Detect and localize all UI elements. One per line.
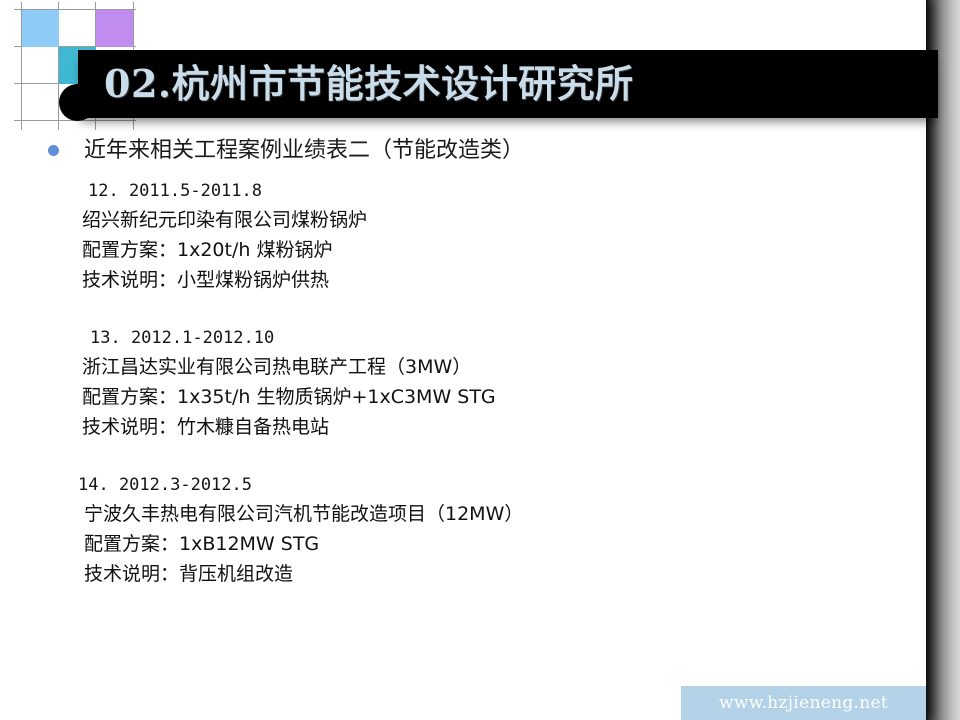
- footer-url: www.hzjieneng.net: [681, 686, 926, 720]
- footer-watermark-band: www.hzjieneng.net: [681, 686, 926, 720]
- entry-project: 浙江昌达实业有限公司热电联产工程（3MW）: [0, 352, 926, 382]
- decor-square-blue: [22, 10, 59, 47]
- entry-tech: 技术说明：背压机组改造: [0, 559, 926, 589]
- list-item: 13. 2012.1-2012.10 浙江昌达实业有限公司热电联产工程（3MW）…: [0, 325, 926, 442]
- entry-project: 宁波久丰热电有限公司汽机节能改造项目（12MW）: [0, 499, 926, 529]
- presentation-slide: 02.杭州市节能技术设计研究所 近年来相关工程案例业绩表二（节能改造类） 12.…: [0, 0, 960, 720]
- entry-header: 13. 2012.1-2012.10: [0, 325, 926, 352]
- entry-project: 绍兴新纪元印染有限公司煤粉锅炉: [0, 205, 926, 235]
- entry-config: 配置方案：1x35t/h 生物质锅炉+1xC3MW STG: [0, 382, 926, 412]
- list-item: 14. 2012.3-2012.5 宁波久丰热电有限公司汽机节能改造项目（12M…: [0, 472, 926, 589]
- page-title: 02.杭州市节能技术设计研究所: [104, 52, 634, 116]
- entry-config: 配置方案：1x20t/h 煤粉锅炉: [0, 235, 926, 265]
- entry-tech: 技术说明：小型煤粉锅炉供热: [0, 265, 926, 295]
- decor-square-purple: [96, 10, 133, 47]
- entry-list: 12. 2011.5-2011.8 绍兴新纪元印染有限公司煤粉锅炉 配置方案：1…: [0, 178, 926, 589]
- list-item: 12. 2011.5-2011.8 绍兴新纪元印染有限公司煤粉锅炉 配置方案：1…: [0, 178, 926, 295]
- entry-config: 配置方案：1xB12MW STG: [0, 529, 926, 559]
- subtitle-text: 近年来相关工程案例业绩表二（节能改造类）: [84, 132, 524, 164]
- slide-content: 近年来相关工程案例业绩表二（节能改造类） 12. 2011.5-2011.8 绍…: [0, 132, 926, 619]
- entry-tech: 技术说明：竹木糠自备热电站: [0, 412, 926, 442]
- bullet-icon: [48, 145, 59, 156]
- entry-header: 12. 2011.5-2011.8: [0, 178, 926, 205]
- entry-header: 14. 2012.3-2012.5: [0, 472, 926, 499]
- subtitle-row: 近年来相关工程案例业绩表二（节能改造类）: [0, 132, 926, 166]
